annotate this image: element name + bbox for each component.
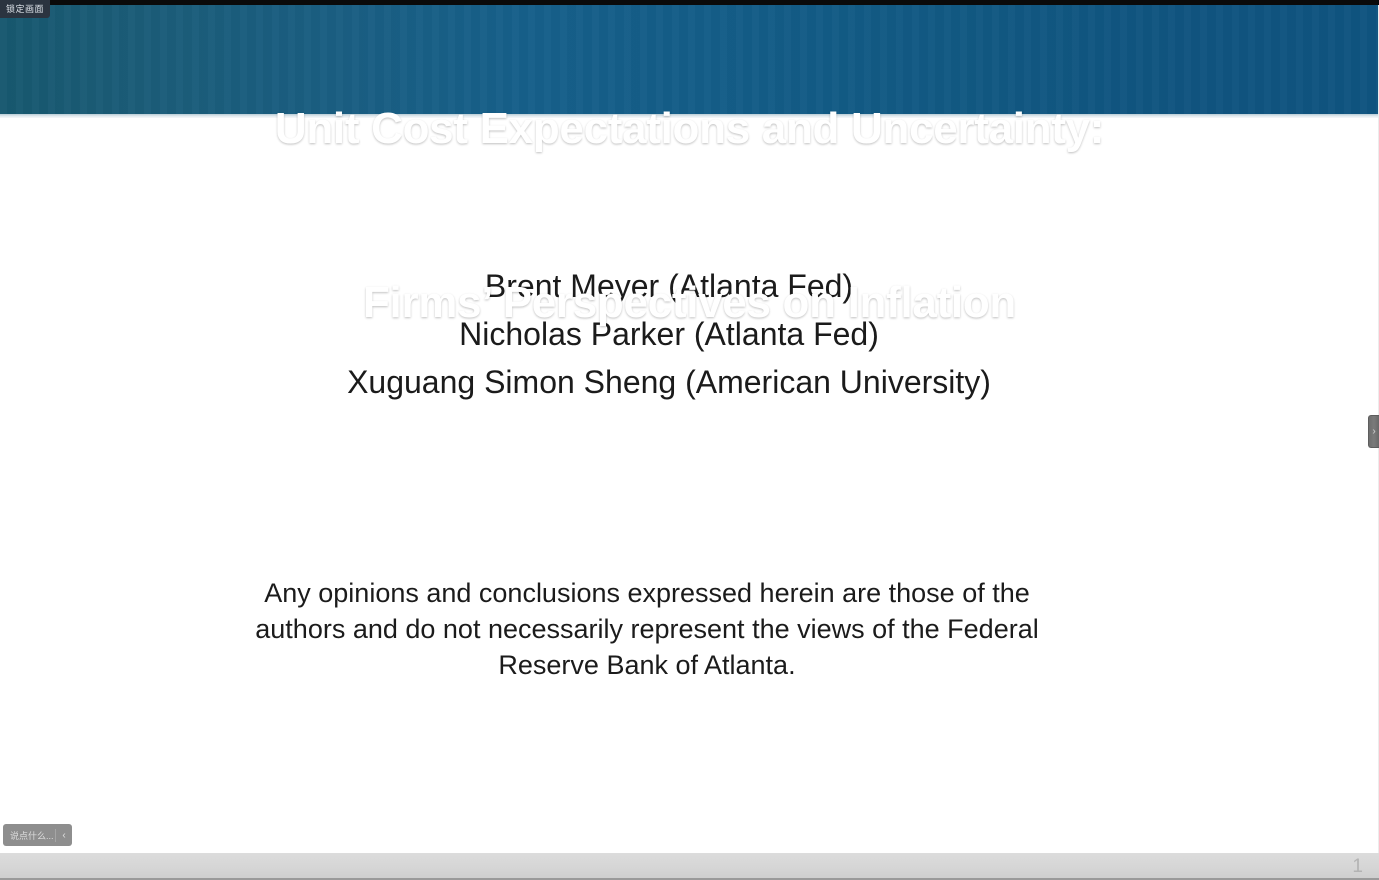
slide-title-line-1: Unit Cost Expectations and Uncertainty: (0, 100, 1379, 158)
right-panel-expander[interactable]: › (1368, 415, 1379, 448)
slide-canvas: Unit Cost Expectations and Uncertainty: … (0, 0, 1379, 853)
top-letterbox-strip (0, 0, 1379, 5)
comment-input-pill[interactable]: 说点什么... ‹ (3, 824, 72, 846)
chevron-right-icon: › (1372, 427, 1375, 437)
slide-title-line-2: Firms’ Perspectives on Inflation (0, 274, 1379, 332)
disclaimer-line-1: Any opinions and conclusions expressed h… (0, 575, 1294, 611)
disclaimer-line-2: authors and do not necessarily represent… (0, 611, 1294, 647)
lock-screen-badge[interactable]: 锁定画面 (0, 0, 50, 18)
screen-root: Unit Cost Expectations and Uncertainty: … (0, 0, 1379, 880)
chevron-left-icon[interactable]: ‹ (56, 830, 72, 841)
viewer-footer-bar: 1 (0, 853, 1379, 880)
comment-input[interactable]: 说点什么... (3, 829, 55, 842)
slide-disclaimer: Any opinions and conclusions expressed h… (0, 575, 1294, 683)
disclaimer-line-3: Reserve Bank of Atlanta. (0, 647, 1294, 683)
page-number: 1 (1352, 856, 1363, 878)
slide-title: Unit Cost Expectations and Uncertainty: … (0, 0, 1379, 448)
